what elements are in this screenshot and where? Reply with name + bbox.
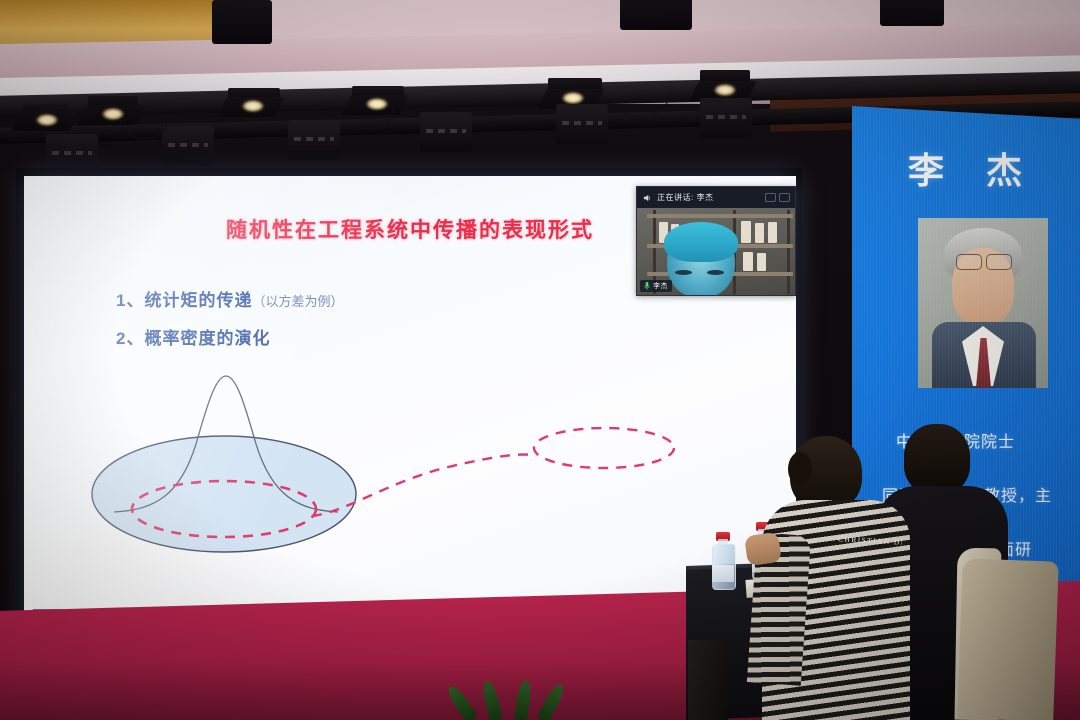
bullet-1-index: 1、 xyxy=(116,291,144,310)
portrait-tie xyxy=(976,338,991,388)
stage-light-fixture xyxy=(352,86,404,102)
book xyxy=(768,222,777,243)
speaker-head xyxy=(667,226,735,295)
slide-bullet-1: 1、统计矩的传递（以方差为例） xyxy=(116,286,343,311)
book xyxy=(755,223,764,243)
vent-grille xyxy=(52,151,92,155)
bullet-1-text: 统计矩的传递 xyxy=(144,291,252,310)
stage-light-fixture xyxy=(880,0,944,26)
book xyxy=(757,253,766,271)
bullet-2-index: 2、 xyxy=(116,329,144,348)
seated-man-head xyxy=(904,424,970,494)
base-ellipse xyxy=(92,436,356,552)
lamp-glow xyxy=(36,114,58,126)
portrait-glasses xyxy=(956,254,982,270)
vent-grille xyxy=(562,121,602,125)
vent-grille xyxy=(294,137,334,141)
conference-stage-scene: 随机性在工程系统中传播的表现形式 1、统计矩的传递（以方差为例） 2、概率密度的… xyxy=(0,0,1080,720)
projection-screen: 随机性在工程系统中传播的表现形式 1、统计矩的传递（以方差为例） 2、概率密度的… xyxy=(24,176,796,630)
light-control-box xyxy=(420,112,472,152)
stage-light-fixture xyxy=(548,78,602,96)
lamp-glow xyxy=(242,100,264,112)
bullet-1-note: （以方差为例） xyxy=(252,294,343,309)
slide-bullet-2: 2、概率密度的演化 xyxy=(116,324,270,349)
stage-light-fixture xyxy=(22,104,68,118)
stage-light-fixture xyxy=(620,0,692,30)
microphone-icon xyxy=(644,282,650,290)
lamp-glow xyxy=(714,84,736,96)
shelf-post xyxy=(787,210,790,294)
video-panel-controls[interactable] xyxy=(765,193,790,202)
expand-icon[interactable] xyxy=(779,193,790,202)
book xyxy=(743,252,753,271)
video-feed: 李杰 xyxy=(637,208,795,295)
portrait-glasses xyxy=(986,254,1012,270)
speaker-eye xyxy=(707,270,724,275)
stage-light-fixture xyxy=(212,0,272,44)
water-bottle xyxy=(712,532,734,590)
video-conference-panel[interactable]: 正在讲话: 李杰 xyxy=(636,186,796,296)
portrait-suit xyxy=(932,322,1036,388)
light-control-box xyxy=(162,126,214,166)
wooden-chair xyxy=(957,558,1059,720)
speaker-icon xyxy=(642,193,652,203)
bullet-2-text: 概率密度的演化 xyxy=(144,329,270,348)
vent-grille xyxy=(426,129,466,133)
vent-grille xyxy=(706,115,746,119)
book xyxy=(741,221,751,243)
portrait-face xyxy=(952,248,1014,326)
banner-speaker-name: 李 杰 xyxy=(908,142,1038,194)
portrait-hair xyxy=(944,228,1022,280)
speaker-eye xyxy=(675,270,692,275)
bookshelf-plank xyxy=(647,214,793,218)
slide-diagram xyxy=(84,364,704,594)
portrait-shirt xyxy=(962,326,1004,386)
vent-grille xyxy=(168,143,208,147)
video-participant-nametag: 李杰 xyxy=(640,280,672,292)
banner-portrait xyxy=(918,218,1048,388)
minimize-icon[interactable] xyxy=(765,193,776,202)
stage-light-fixture xyxy=(700,70,750,88)
lamp-glow xyxy=(562,92,584,104)
video-panel-header: 正在讲话: 李杰 xyxy=(637,187,795,208)
speaker-hair xyxy=(664,222,738,262)
seated-woman-hand xyxy=(744,532,782,566)
bottle-label xyxy=(712,565,734,582)
stage-light-fixture xyxy=(228,88,280,104)
potted-plant xyxy=(448,676,568,720)
light-control-box xyxy=(556,104,608,144)
seated-woman-hair-bun xyxy=(788,452,812,486)
target-dashed-ellipse xyxy=(534,428,674,468)
speaking-status-label: 正在讲话: 李杰 xyxy=(657,192,713,203)
chair-leg xyxy=(688,640,728,720)
light-control-box xyxy=(700,98,752,138)
light-control-box xyxy=(288,120,340,160)
video-participant-name: 李杰 xyxy=(653,281,668,291)
stage-light-fixture xyxy=(88,96,138,112)
